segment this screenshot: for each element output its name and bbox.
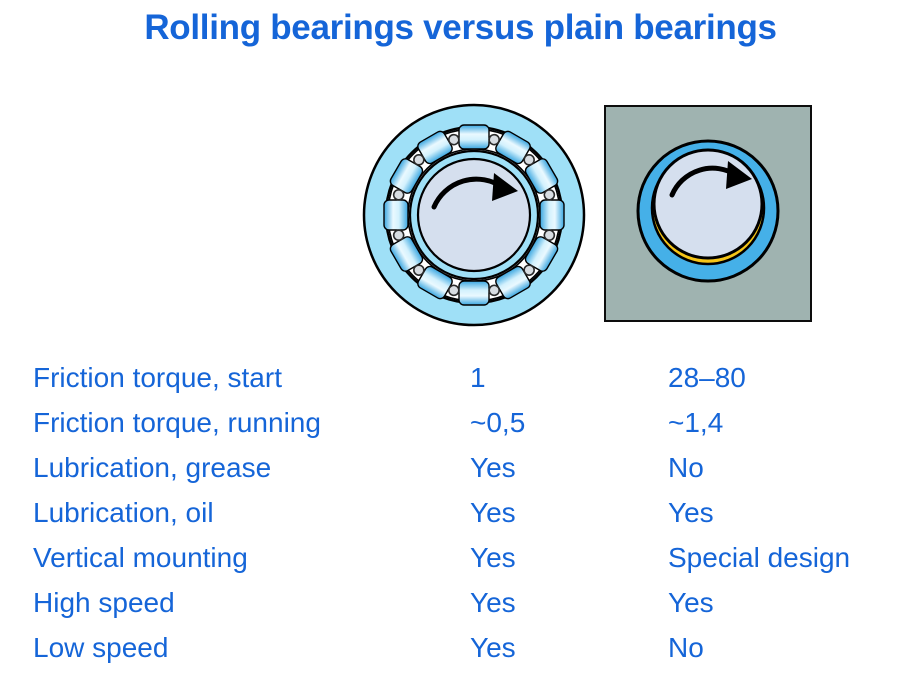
row-value-rolling: Yes	[470, 580, 516, 625]
row-label: Friction torque, running	[33, 400, 321, 445]
row-value-plain: Special design	[668, 535, 850, 580]
row-label: Low speed	[33, 625, 168, 670]
row-value-rolling: Yes	[470, 535, 516, 580]
inner-bore	[410, 151, 538, 279]
row-value-rolling: Yes	[470, 445, 516, 490]
table-row: Friction torque, running ~0,5 ~1,4	[0, 400, 921, 445]
table-row: High speed Yes Yes	[0, 580, 921, 625]
row-label: Lubrication, oil	[33, 490, 214, 535]
figures-row	[0, 95, 921, 335]
row-label: Vertical mounting	[33, 535, 248, 580]
row-label: Lubrication, grease	[33, 445, 271, 490]
table-row: Friction torque, start 1 28–80	[0, 355, 921, 400]
row-value-plain: ~1,4	[668, 400, 723, 445]
page-title: Rolling bearings versus plain bearings	[0, 8, 921, 48]
row-value-rolling: ~0,5	[470, 400, 525, 445]
table-row: Low speed Yes No	[0, 625, 921, 670]
row-value-rolling: Yes	[470, 625, 516, 670]
comparison-table: Friction torque, start 1 28–80 Friction …	[0, 355, 921, 670]
row-value-plain: 28–80	[668, 355, 746, 400]
row-value-rolling: Yes	[470, 490, 516, 535]
row-value-plain: Yes	[668, 580, 714, 625]
row-label: Friction torque, start	[33, 355, 282, 400]
table-row: Lubrication, oil Yes Yes	[0, 490, 921, 535]
row-value-plain: Yes	[668, 490, 714, 535]
row-value-plain: No	[668, 625, 704, 670]
row-value-rolling: 1	[470, 355, 486, 400]
row-value-plain: No	[668, 445, 704, 490]
table-row: Vertical mounting Yes Special design	[0, 535, 921, 580]
table-row: Lubrication, grease Yes No	[0, 445, 921, 490]
row-label: High speed	[33, 580, 175, 625]
plain-bearing-figure	[604, 105, 812, 322]
rolling-bearing-figure	[362, 103, 586, 327]
